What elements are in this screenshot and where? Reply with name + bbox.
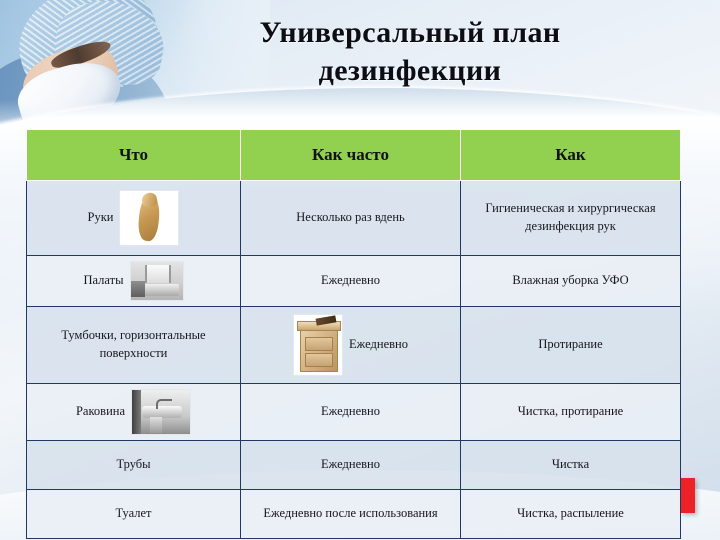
cell-how-often-label: Несколько раз вдень	[296, 210, 404, 224]
column-header-what: Что	[27, 130, 241, 181]
cell-how-label: Чистка, распыление	[517, 506, 624, 520]
cell-how-often: Ежедневно	[241, 256, 461, 307]
cell-how-often-label: Ежедневно	[321, 404, 380, 418]
cell-what: Трубы	[27, 441, 241, 490]
table-row: Палаты Ежедневно Влажная уборка УФО	[27, 256, 681, 307]
cell-what: Палаты	[27, 256, 241, 307]
cell-how-often: Ежедневно	[241, 384, 461, 441]
cell-how-often-label: Ежедневно	[321, 457, 380, 471]
cell-how-label: Протирание	[538, 337, 602, 351]
cell-how: Гигиеническая и хирургическая дезинфекци…	[461, 181, 681, 256]
cell-what-label: Руки	[88, 209, 114, 227]
cell-how-label: Гигиеническая и хирургическая дезинфекци…	[485, 201, 655, 233]
cell-what: Руки	[27, 181, 241, 256]
disinfection-plan-table-wrapper: Что Как часто Как Руки	[26, 129, 680, 539]
hand-photo-icon	[119, 190, 179, 246]
cell-how-label: Влажная уборка УФО	[512, 273, 628, 287]
cell-how: Протирание	[461, 307, 681, 384]
cell-what-label: Тумбочки, горизонтальные поверхности	[61, 328, 205, 360]
table-row: Трубы Ежедневно Чистка	[27, 441, 681, 490]
cell-what: Тумбочки, горизонтальные поверхности	[27, 307, 241, 384]
slide-canvas: Универсальный план дезинфекции Что Как ч…	[0, 0, 720, 540]
hospital-ward-photo-icon	[130, 261, 184, 301]
cell-how: Влажная уборка УФО	[461, 256, 681, 307]
table-row: Туалет Ежедневно после использования Чис…	[27, 490, 681, 539]
column-header-how-often: Как часто	[241, 130, 461, 181]
cell-how: Чистка, распыление	[461, 490, 681, 539]
table-header-row: Что Как часто Как	[27, 130, 681, 181]
table-row: Тумбочки, горизонтальные поверхности Еже…	[27, 307, 681, 384]
table-row: Раковина Ежедневно Чистка, протирание	[27, 384, 681, 441]
sink-photo-icon	[131, 389, 191, 435]
cell-how-often: Ежедневно	[241, 307, 461, 384]
cell-how-often: Ежедневно	[241, 441, 461, 490]
cell-how: Чистка	[461, 441, 681, 490]
cell-how-label: Чистка	[552, 457, 589, 471]
red-accent-block	[681, 478, 695, 513]
cell-how-often: Ежедневно после использования	[241, 490, 461, 539]
cell-how: Чистка, протирание	[461, 384, 681, 441]
cell-what: Раковина	[27, 384, 241, 441]
cell-what: Туалет	[27, 490, 241, 539]
cell-how-often-label: Ежедневно после использования	[263, 506, 437, 520]
nightstand-photo-icon	[293, 314, 343, 376]
cell-what-label: Трубы	[116, 457, 150, 471]
cell-how-often: Несколько раз вдень	[241, 181, 461, 256]
cell-what-label: Палаты	[83, 272, 123, 290]
column-header-how: Как	[461, 130, 681, 181]
cell-how-often-label: Ежедневно	[321, 273, 380, 287]
cell-what-label: Раковина	[76, 403, 125, 421]
page-title: Универсальный план дезинфекции	[175, 14, 645, 91]
cell-how-label: Чистка, протирание	[518, 404, 623, 418]
table-row: Руки Несколько раз вдень Гигиеническая и…	[27, 181, 681, 256]
disinfection-plan-table: Что Как часто Как Руки	[26, 129, 681, 539]
cell-how-often-label: Ежедневно	[349, 336, 408, 354]
cell-what-label: Туалет	[115, 506, 151, 520]
